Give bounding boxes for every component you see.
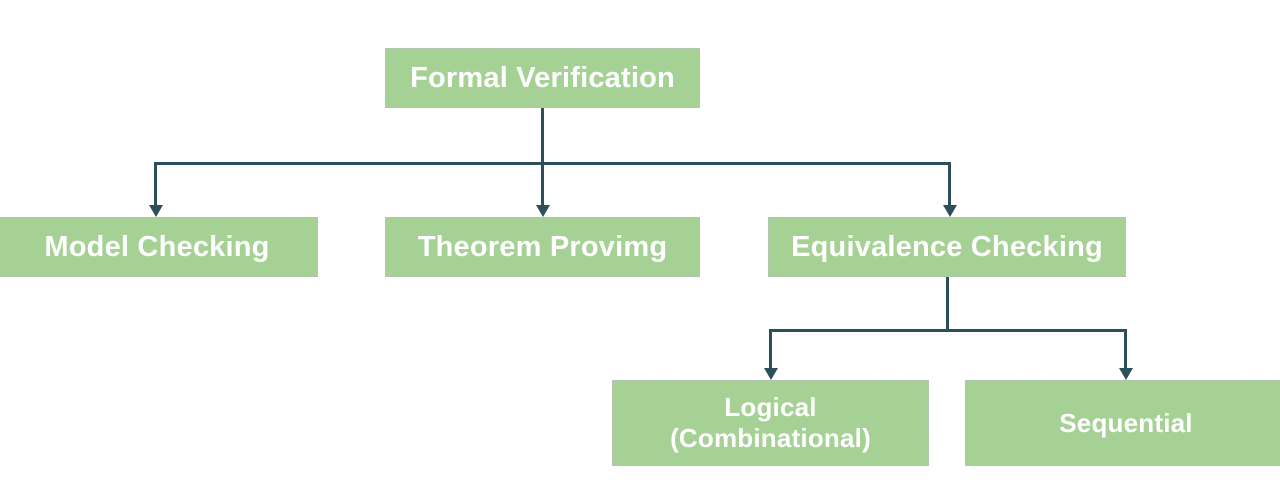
node-formal-verification-label: Formal Verification: [386, 61, 699, 95]
connector-drop-sequential: [1124, 329, 1127, 373]
node-sequential-label: Sequential: [966, 408, 1280, 439]
connector-level2-bus: [769, 329, 1127, 332]
node-theorem-proving-label: Theorem Provimg: [386, 230, 699, 264]
arrowhead-sequential-icon: [1119, 368, 1133, 380]
connector-level1-bus: [154, 162, 949, 165]
arrowhead-logical-icon: [764, 368, 778, 380]
node-theorem-proving[interactable]: Theorem Provimg: [385, 217, 700, 277]
connector-drop-theorem-proving: [541, 162, 544, 210]
node-logical-combinational[interactable]: Logical (Combinational): [612, 380, 929, 466]
connector-drop-model-checking: [154, 162, 157, 210]
node-logical-combinational-label: Logical (Combinational): [613, 392, 928, 453]
node-equivalence-checking-label: Equivalence Checking: [769, 230, 1125, 264]
connector-equivalence-stem: [946, 277, 949, 331]
diagram-canvas: Formal Verification Model Checking Theor…: [0, 0, 1280, 501]
node-formal-verification[interactable]: Formal Verification: [385, 48, 700, 108]
arrowhead-model-checking-icon: [149, 205, 163, 217]
connector-root-stem: [541, 108, 544, 165]
node-equivalence-checking[interactable]: Equivalence Checking: [768, 217, 1126, 277]
arrowhead-equivalence-checking-icon: [943, 205, 957, 217]
connector-drop-equivalence-checking: [948, 162, 951, 210]
connector-drop-logical: [769, 329, 772, 373]
node-model-checking[interactable]: Model Checking: [0, 217, 318, 277]
arrowhead-theorem-proving-icon: [536, 205, 550, 217]
node-sequential[interactable]: Sequential: [965, 380, 1280, 466]
node-model-checking-label: Model Checking: [0, 230, 317, 264]
